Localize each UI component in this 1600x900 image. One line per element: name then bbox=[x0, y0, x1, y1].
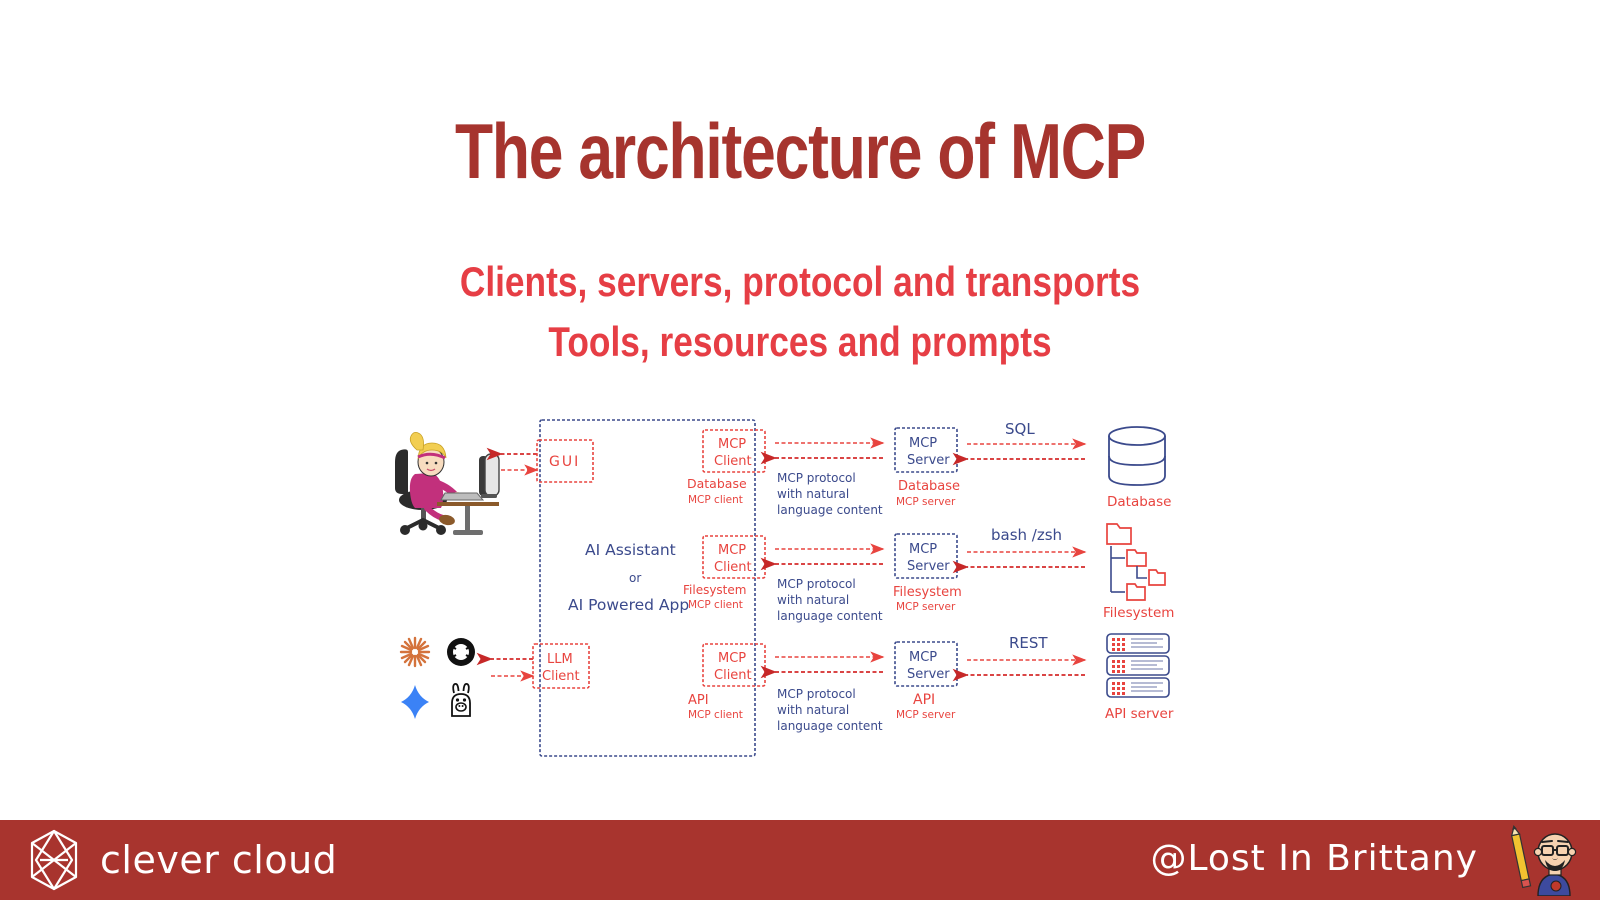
folder-tree-icon bbox=[1107, 524, 1165, 600]
mcp-server-caption-2: MCP server bbox=[896, 709, 956, 721]
claude-logo bbox=[401, 638, 429, 666]
footer-handle: @Lost In Brittany bbox=[1150, 838, 1478, 879]
mcp-server-caption-1: API bbox=[913, 692, 935, 708]
mcp-client-line-2: Client bbox=[714, 560, 752, 575]
mcp-client-line-2: Client bbox=[714, 668, 752, 683]
transport-arrows bbox=[967, 552, 1085, 567]
transport-label: REST bbox=[1009, 634, 1048, 652]
mcp-client-caption-1: Filesystem bbox=[683, 583, 746, 597]
llm-client-label-1: LLM bbox=[547, 652, 573, 667]
protocol-line-1: MCP protocol bbox=[777, 471, 856, 485]
mcp-client-line-2: Client bbox=[714, 454, 752, 469]
host-label-line-1: AI Assistant bbox=[585, 541, 676, 559]
protocol-line-3: language content bbox=[777, 719, 883, 733]
protocol-line-2: with natural bbox=[777, 487, 849, 501]
mcp-client-caption-2: MCP client bbox=[688, 599, 743, 611]
transport-label: bash /zsh bbox=[991, 526, 1062, 544]
transport-arrows bbox=[967, 444, 1085, 459]
host-label-line-2: or bbox=[629, 571, 641, 585]
gui-label: GUI bbox=[549, 454, 580, 470]
resource-label: Filesystem bbox=[1103, 605, 1174, 621]
mcp-server-caption-2: MCP server bbox=[896, 496, 956, 508]
transport-label: SQL bbox=[1005, 420, 1035, 438]
gui-box[interactable]: GUI bbox=[537, 440, 593, 482]
protocol-arrows bbox=[775, 549, 883, 564]
mcp-server-line-2: Server bbox=[907, 667, 950, 682]
transport-arrows bbox=[967, 660, 1085, 675]
mcp-client-line-1: MCP bbox=[718, 543, 746, 558]
mcp-client-caption-2: MCP client bbox=[688, 494, 743, 506]
mcp-server-line-2: Server bbox=[907, 453, 950, 468]
mcp-server-box[interactable]: MCP Server Filesystem MCP server bbox=[893, 534, 962, 613]
host-label-line-3: AI Powered App bbox=[568, 596, 689, 614]
mcp-client-box[interactable]: MCP Client API MCP client bbox=[688, 644, 765, 721]
llm-client-arrows bbox=[491, 659, 533, 676]
openai-logo bbox=[447, 638, 475, 666]
mcp-client-caption-1: API bbox=[688, 693, 709, 708]
user-gui-arrows bbox=[501, 454, 537, 470]
mcp-server-line-1: MCP bbox=[909, 542, 937, 557]
mcp-server-box[interactable]: MCP Server API MCP server bbox=[895, 642, 957, 721]
mcp-server-caption-1: Filesystem bbox=[893, 585, 962, 600]
protocol-line-2: with natural bbox=[777, 703, 849, 717]
mcp-architecture-diagram: .hand-red { font-family: "DejaVu Sans", … bbox=[385, 412, 1225, 782]
protocol-arrows bbox=[775, 657, 883, 672]
slide: The architecture of MCP Clients, servers… bbox=[0, 0, 1600, 900]
speaker-avatar bbox=[1502, 824, 1586, 896]
protocol-line-2: with natural bbox=[777, 593, 849, 607]
footer-bar: clever cloud @Lost In Brittany bbox=[0, 820, 1600, 900]
mcp-client-caption-2: MCP client bbox=[688, 709, 743, 721]
page-subtitle: Clients, servers, protocol and transport… bbox=[128, 252, 1472, 372]
mcp-row-filesystem: MCP Client Filesystem MCP client MCP pro… bbox=[683, 524, 1174, 623]
mcp-client-box[interactable]: MCP Client Database MCP client bbox=[687, 430, 765, 506]
llm-client-box[interactable]: LLM Client bbox=[533, 644, 589, 688]
protocol-arrows bbox=[775, 443, 883, 458]
mcp-server-box[interactable]: MCP Server Database MCP server bbox=[895, 428, 960, 508]
mcp-server-line-1: MCP bbox=[909, 436, 937, 451]
protocol-line-3: language content bbox=[777, 609, 883, 623]
mcp-server-line-1: MCP bbox=[909, 650, 937, 665]
page-title: The architecture of MCP bbox=[160, 106, 1440, 197]
user-illustration bbox=[395, 432, 499, 535]
mcp-client-line-1: MCP bbox=[718, 437, 746, 452]
subtitle-line-1: Clients, servers, protocol and transport… bbox=[128, 252, 1472, 312]
database-cylinder-icon bbox=[1109, 427, 1165, 485]
mcp-server-caption-2: MCP server bbox=[896, 601, 956, 613]
resource-label: API server bbox=[1105, 706, 1174, 722]
mcp-client-line-1: MCP bbox=[718, 651, 746, 666]
footer-brand-name: clever cloud bbox=[100, 838, 337, 882]
llm-client-label-2: Client bbox=[542, 669, 580, 684]
mcp-client-box[interactable]: MCP Client Filesystem MCP client bbox=[683, 536, 765, 611]
server-rack-icon bbox=[1107, 634, 1169, 697]
protocol-line-1: MCP protocol bbox=[777, 687, 856, 701]
mcp-server-caption-1: Database bbox=[898, 479, 960, 494]
resource-label: Database bbox=[1107, 494, 1171, 510]
clever-cloud-logo bbox=[22, 828, 86, 892]
mcp-server-line-2: Server bbox=[907, 559, 950, 574]
subtitle-line-2: Tools, resources and prompts bbox=[128, 312, 1472, 372]
protocol-line-1: MCP protocol bbox=[777, 577, 856, 591]
mcp-row-api: MCP Client API MCP client MCP protocol w… bbox=[688, 634, 1174, 733]
gemini-logo bbox=[401, 685, 429, 719]
protocol-line-3: language content bbox=[777, 503, 883, 517]
llm-logo-group bbox=[401, 638, 475, 719]
llama-logo bbox=[452, 684, 470, 716]
mcp-client-caption-1: Database bbox=[687, 476, 747, 491]
mcp-row-database: MCP Client Database MCP client MCP proto… bbox=[687, 420, 1171, 517]
